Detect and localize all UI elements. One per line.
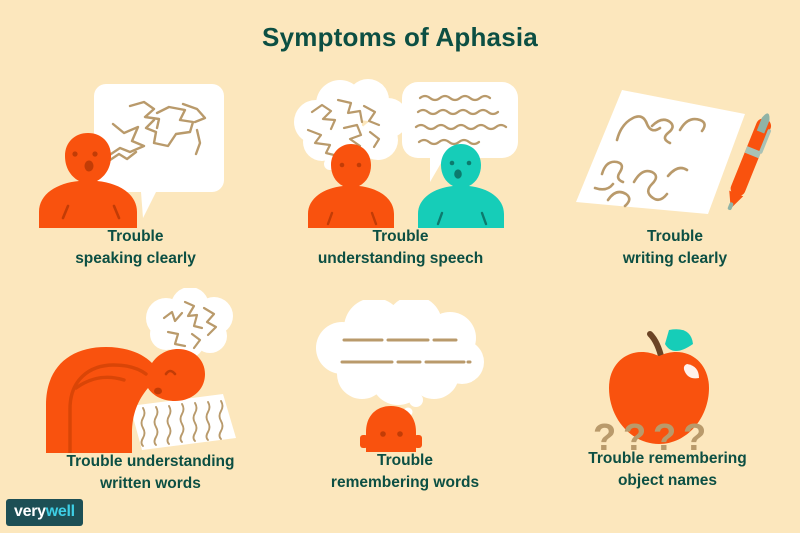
verywell-logo[interactable]: verywell — [6, 499, 83, 526]
illustration-two-people-conversing — [278, 78, 523, 228]
caption-line-2: remembering words — [331, 474, 479, 491]
symptom-card-writing: Trouble writing clearly — [560, 78, 790, 273]
caption-line-2: understanding speech — [318, 250, 483, 267]
thought-cloud-large — [316, 300, 484, 417]
illustration-paper-and-pen — [560, 78, 790, 228]
person-head-small — [360, 406, 422, 452]
caption-remembering-objects: Trouble remembering object names — [545, 448, 790, 492]
caption-line-2: object names — [618, 472, 717, 489]
svg-text:?: ? — [653, 417, 676, 452]
logo-text-well: well — [46, 503, 75, 520]
caption-line-1: Trouble — [377, 452, 433, 469]
caption-line-2: writing clearly — [623, 250, 727, 267]
illustration-apple-with-questions: ? ? ? ? — [545, 312, 790, 452]
page-title: Symptoms of Aphasia — [0, 22, 800, 53]
illustration-head-with-cloud — [300, 300, 510, 452]
caption-understanding-speech: Trouble understanding speech — [278, 226, 523, 270]
apple-leaf — [665, 329, 693, 351]
paper-sheet-reading — [130, 394, 236, 450]
illustration-person-speaking — [33, 78, 238, 228]
caption-line-1: Trouble understanding — [67, 453, 235, 470]
symptom-card-speaking: Trouble speaking clearly — [33, 78, 238, 273]
svg-text:?: ? — [593, 417, 616, 452]
symptom-card-understanding-written: Trouble understanding written words — [18, 288, 283, 498]
illustration-person-reading — [18, 288, 283, 453]
caption-understanding-written: Trouble understanding written words — [18, 451, 283, 495]
caption-line-1: Trouble — [647, 228, 703, 245]
caption-speaking: Trouble speaking clearly — [33, 226, 238, 270]
caption-line-1: Trouble — [373, 228, 429, 245]
caption-line-1: Trouble remembering — [588, 450, 746, 467]
paper-sheet — [576, 90, 745, 214]
symptom-card-remembering-objects: ? ? ? ? Trouble remembering object names — [545, 312, 790, 498]
caption-writing: Trouble writing clearly — [560, 226, 790, 270]
svg-text:?: ? — [623, 417, 646, 452]
caption-line-1: Trouble — [108, 228, 164, 245]
infographic-canvas: Symptoms of Aphasia — [0, 0, 800, 533]
svg-text:?: ? — [683, 417, 706, 452]
caption-remembering-words: Trouble remembering words — [300, 450, 510, 494]
symptom-card-understanding-speech: Trouble understanding speech — [278, 78, 523, 273]
symptom-card-remembering-words: Trouble remembering words — [300, 300, 510, 498]
logo-text-very: very — [14, 503, 46, 520]
caption-line-2: written words — [100, 475, 201, 492]
caption-line-2: speaking clearly — [75, 250, 196, 267]
